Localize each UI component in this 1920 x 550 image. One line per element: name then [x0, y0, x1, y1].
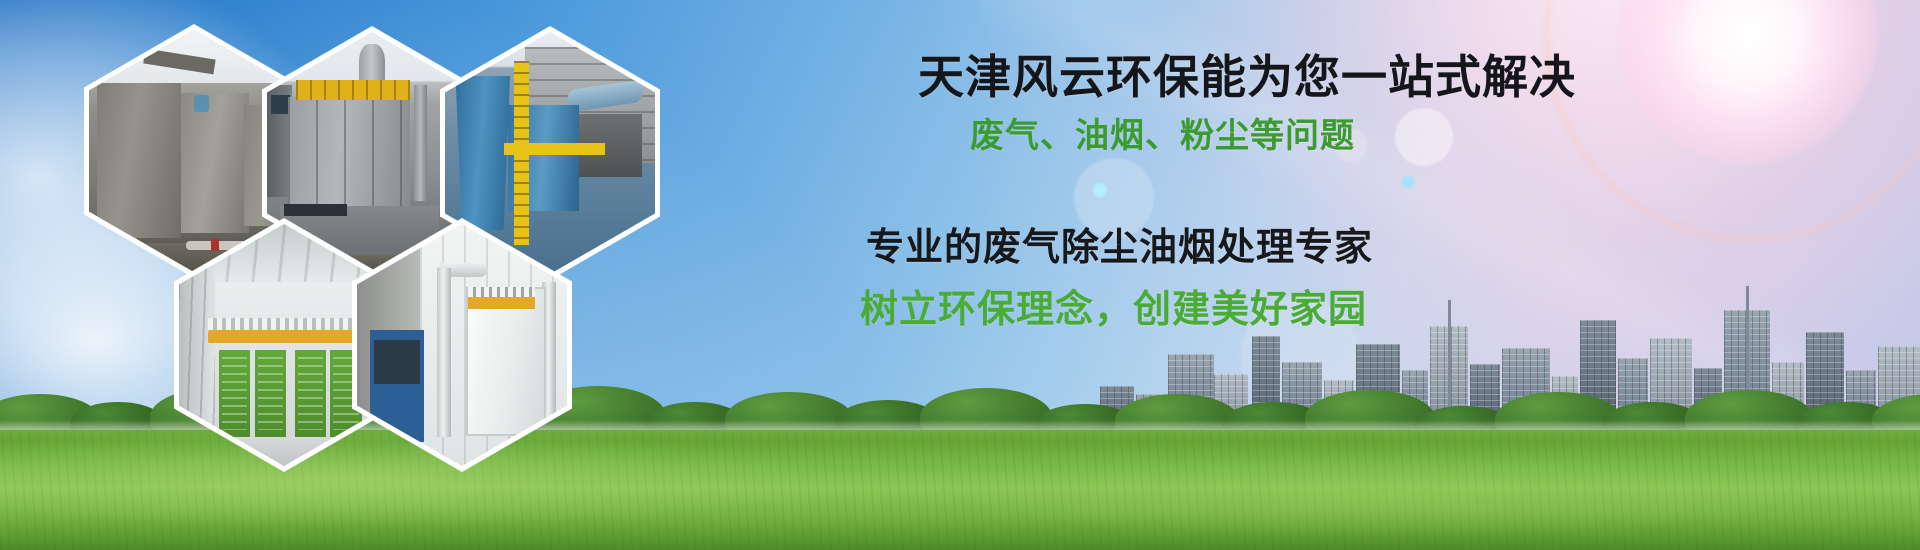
promo-banner: 天津风云环保能为您一站式解决 废气、油烟、粉尘等问题 专业的废气除尘油烟处理专家… — [0, 0, 1920, 550]
banner-headline: 天津风云环保能为您一站式解决 — [918, 52, 1700, 104]
banner-subheadline: 废气、油烟、粉尘等问题 — [970, 117, 1700, 156]
banner-tagline-primary: 专业的废气除尘油烟处理专家 — [866, 225, 1700, 270]
headline-block: 天津风云环保能为您一站式解决 废气、油烟、粉尘等问题 — [860, 52, 1700, 156]
tagline-block: 专业的废气除尘油烟处理专家 树立环保理念，创建美好家园 — [860, 225, 1700, 332]
banner-tagline-secondary: 树立环保理念，创建美好家园 — [860, 287, 1700, 332]
hexagon-photo-collage — [0, 0, 700, 430]
